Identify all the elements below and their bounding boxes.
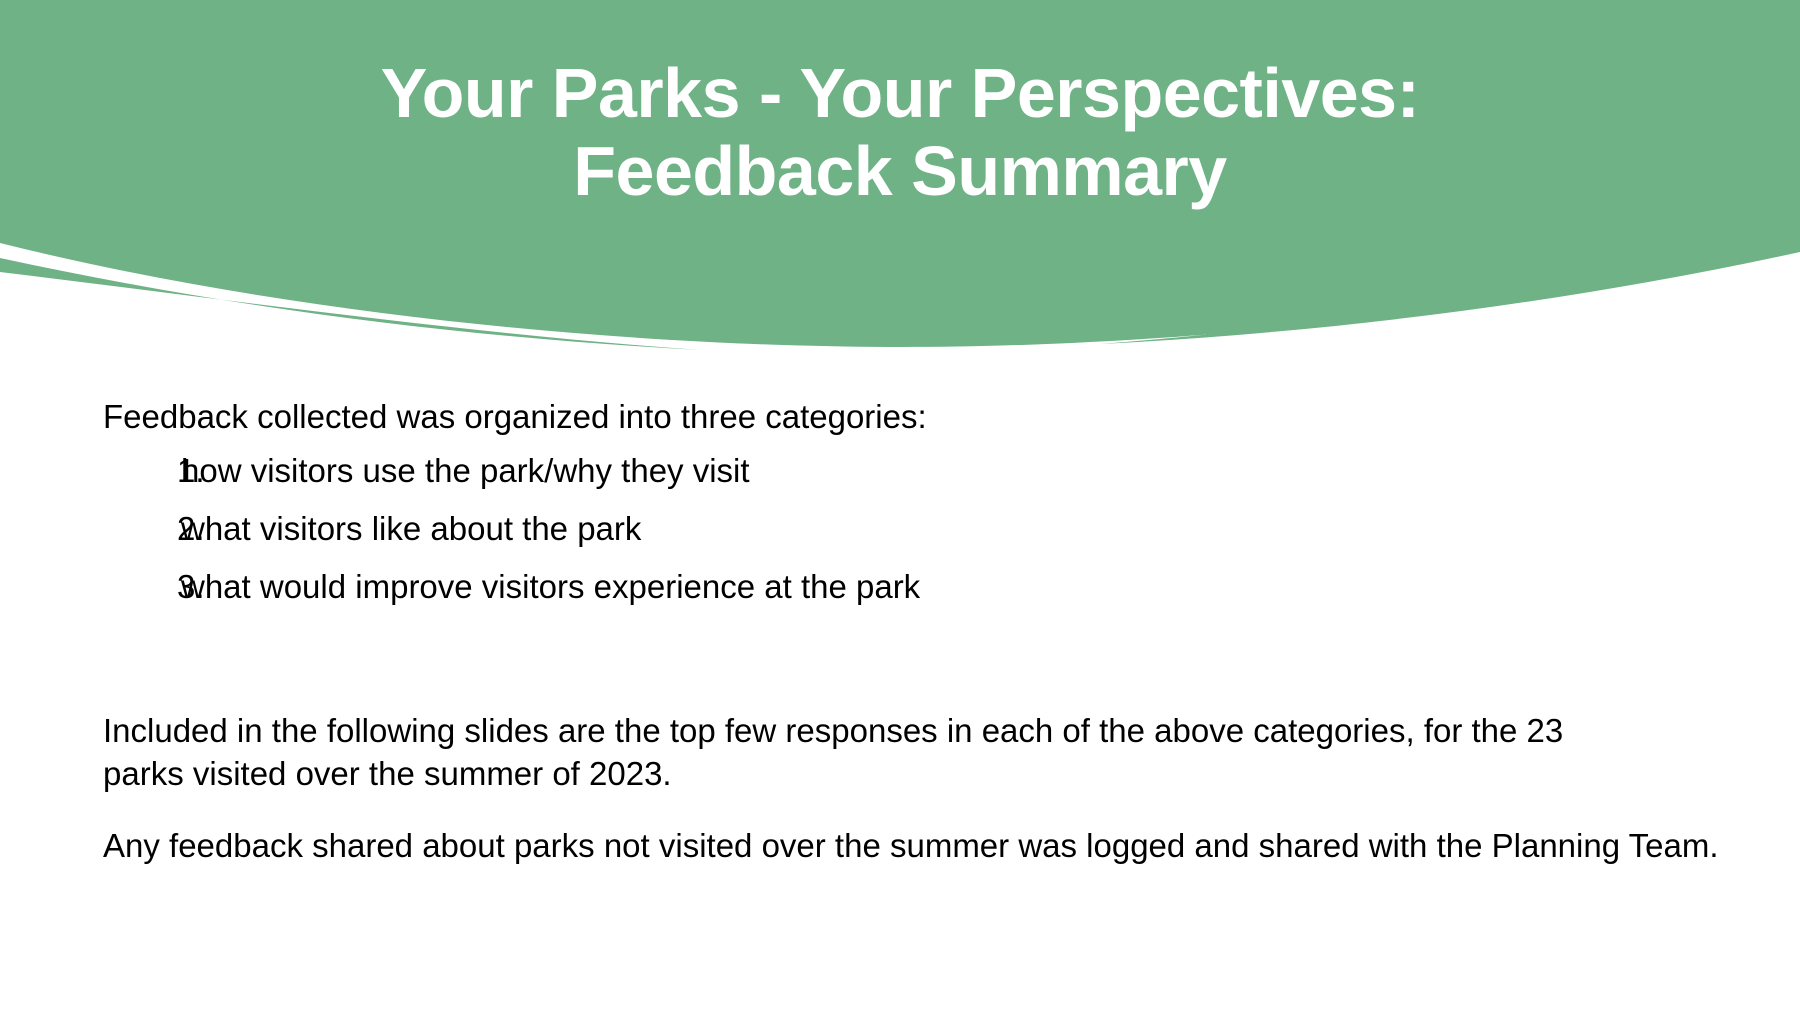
- page-title: Your Parks - Your Perspectives: Feedback…: [0, 54, 1800, 211]
- list-item-marker: 2.: [103, 510, 181, 549]
- list-item-label: what visitors like about the park: [181, 510, 1503, 549]
- list-item: 1. how visitors use the park/why they vi…: [103, 452, 1503, 510]
- paragraph-planning-team: Any feedback shared about parks not visi…: [103, 825, 1733, 868]
- paragraph-following-slides: Included in the following slides are the…: [103, 710, 1648, 796]
- presentation-slide: Your Parks - Your Perspectives: Feedback…: [0, 0, 1800, 1012]
- list-item: 3. what would improve visitors experienc…: [103, 568, 1503, 626]
- list-item-label: what would improve visitors experience a…: [181, 568, 1503, 607]
- list-item: 2. what visitors like about the park: [103, 510, 1503, 568]
- list-item-marker: 3.: [103, 568, 181, 607]
- list-item-marker: 1.: [103, 452, 181, 491]
- categories-numbered-list: 1. how visitors use the park/why they vi…: [103, 452, 1503, 626]
- intro-text: Feedback collected was organized into th…: [103, 398, 927, 437]
- list-item-label: how visitors use the park/why they visit: [181, 452, 1503, 491]
